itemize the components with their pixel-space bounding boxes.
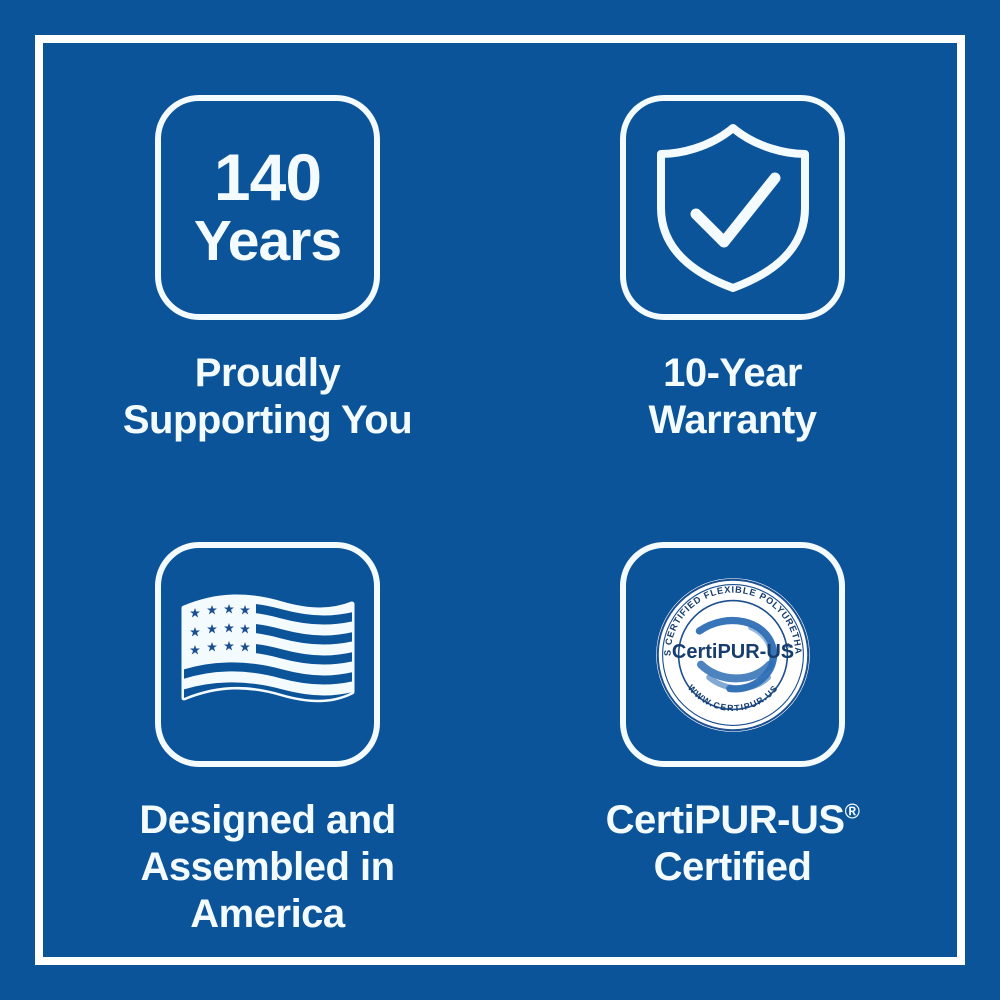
caption-line-1: Proudly: [123, 350, 412, 397]
feature-caption-certipur: CertiPUR-US® Certified: [606, 797, 860, 891]
caption-line-3: America: [139, 891, 395, 938]
certipur-center-wordmark: CertiPUR-US: [671, 641, 793, 663]
140-years-badge-icon: 140 Years: [155, 95, 380, 320]
usa-flag-icon: [178, 590, 358, 720]
flag-icon-box: [155, 542, 380, 767]
feature-caption-years: Proudly Supporting You: [123, 350, 412, 444]
feature-caption-warranty: 10-Year Warranty: [649, 350, 817, 444]
caption-line-2: Supporting You: [123, 397, 412, 444]
registered-mark: ®: [845, 801, 860, 824]
caption-line-1: Designed and: [139, 797, 395, 844]
caption-line-1: 10-Year: [649, 350, 817, 397]
shield-check-icon: [649, 122, 817, 294]
years-word-label: Years: [194, 212, 341, 270]
caption-line-2: Warranty: [649, 397, 817, 444]
feature-item-years: 140 Years Proudly Supporting You: [35, 35, 500, 500]
feature-item-made-in-america: Designed and Assembled in America: [35, 500, 500, 965]
certipur-icon-box: CertiPUR-US ® CONTAINS CERTIFIED FLEXIBL…: [620, 542, 845, 767]
shield-icon-box: [620, 95, 845, 320]
certipur-label: CertiPUR-US: [606, 798, 845, 842]
caption-line-2: Assembled in: [139, 844, 395, 891]
feature-caption-made-in-america: Designed and Assembled in America: [139, 797, 395, 939]
years-number-label: 140: [194, 145, 341, 210]
feature-item-warranty: 10-Year Warranty: [500, 35, 965, 500]
feature-poster: 140 Years Proudly Supporting You 10-Year…: [0, 0, 1000, 1000]
certipur-us-seal-icon: CertiPUR-US ® CONTAINS CERTIFIED FLEXIBL…: [653, 575, 813, 735]
feature-grid: 140 Years Proudly Supporting You 10-Year…: [35, 35, 965, 965]
caption-line-2: Certified: [606, 844, 860, 891]
feature-item-certipur: CertiPUR-US ® CONTAINS CERTIFIED FLEXIBL…: [500, 500, 965, 965]
certipur-registered-mark: ®: [784, 641, 790, 650]
caption-line-1: CertiPUR-US®: [606, 797, 860, 844]
